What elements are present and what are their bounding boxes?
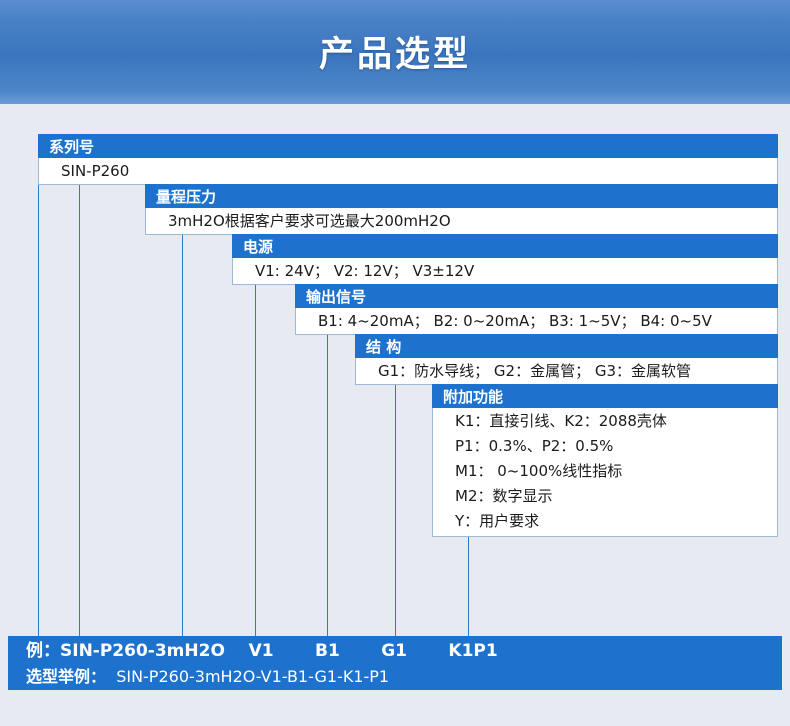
- extras-line-k: K1：直接引线、K2：2088壳体: [455, 409, 771, 434]
- connector-line-series: [38, 182, 39, 636]
- level-extras-title: 附加功能: [432, 384, 778, 408]
- connector-line-extras: [395, 382, 396, 636]
- extras-line-p: P1：0.3%、P2：0.5%: [455, 434, 771, 459]
- level-structure-value: G1：防水导线； G2：金属管； G3：金属软管: [355, 358, 778, 385]
- example-block: 例：SIN-P260-3mH2O V1 B1 G1 K1P1 选型举例： SIN…: [8, 636, 782, 690]
- level-output: 输出信号 B1: 4~20mA； B2: 0~20mA； B3: 1~5V； B…: [295, 284, 778, 335]
- level-output-value: B1: 4~20mA； B2: 0~20mA； B3: 1~5V； B4: 0~…: [295, 308, 778, 335]
- example-full-code-line: 选型举例： SIN-P260-3mH2O-V1-B1-G1-K1-P1: [26, 664, 782, 689]
- level-structure: 结 构 G1：防水导线； G2：金属管； G3：金属软管: [355, 334, 778, 385]
- level-series-title: 系列号: [38, 134, 778, 158]
- example-code-line: 例：SIN-P260-3mH2O V1 B1 G1 K1P1: [26, 639, 782, 664]
- level-range: 量程压力 3mH2O根据客户要求可选最大200mH2O: [145, 184, 778, 235]
- level-power-value: V1: 24V； V2: 12V； V3±12V: [232, 258, 778, 285]
- page-header-banner: 产品选型: [0, 0, 790, 105]
- page-title: 产品选型: [0, 26, 790, 77]
- extras-line-m2: M2：数字显示: [455, 484, 771, 509]
- example-value: SIN-P260-3mH2O-V1-B1-G1-K1-P1: [106, 667, 389, 686]
- level-series: 系列号 SIN-P260: [38, 134, 778, 185]
- example-label: 选型举例：: [26, 667, 106, 686]
- level-series-value: SIN-P260: [38, 158, 778, 185]
- level-power: 电源 V1: 24V； V2: 12V； V3±12V: [232, 234, 778, 285]
- level-structure-title: 结 构: [355, 334, 778, 358]
- level-extras: 附加功能 K1：直接引线、K2：2088壳体 P1：0.3%、P2：0.5% M…: [432, 384, 778, 537]
- extras-line-m1: M1： 0~100%线性指标: [455, 459, 771, 484]
- level-output-title: 输出信号: [295, 284, 778, 308]
- connector-line-power: [182, 232, 183, 636]
- level-power-title: 电源: [232, 234, 778, 258]
- extras-line-y: Y：用户要求: [455, 509, 771, 534]
- connector-line-structure: [327, 332, 328, 636]
- connector-line-output: [255, 282, 256, 636]
- level-range-title: 量程压力: [145, 184, 778, 208]
- level-extras-values: K1：直接引线、K2：2088壳体 P1：0.3%、P2：0.5% M1： 0~…: [432, 408, 778, 537]
- level-range-value: 3mH2O根据客户要求可选最大200mH2O: [145, 208, 778, 235]
- selection-diagram: 系列号 SIN-P260 量程压力 3mH2O根据客户要求可选最大200mH2O…: [0, 104, 790, 726]
- connector-line-range: [79, 182, 80, 636]
